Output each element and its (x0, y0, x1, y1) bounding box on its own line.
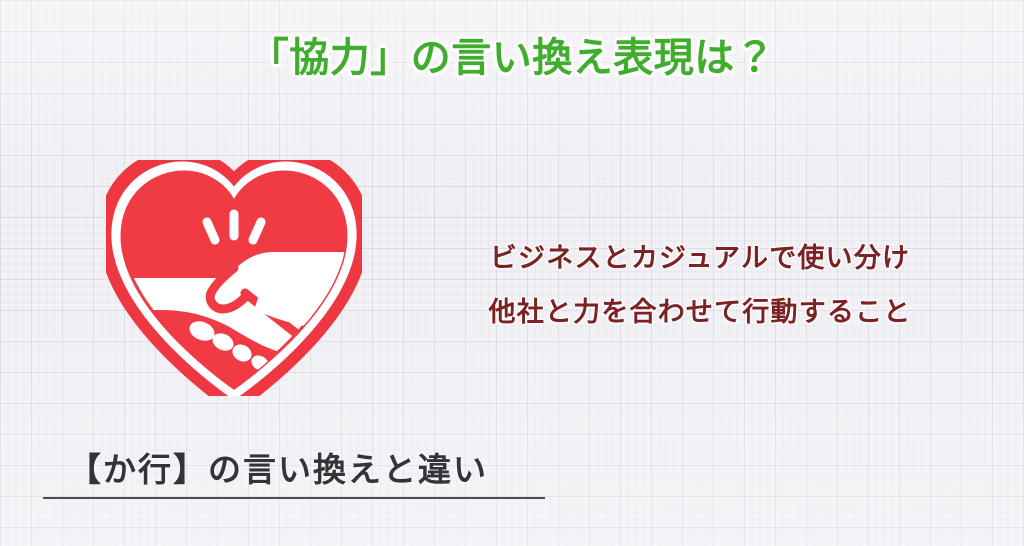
footer-caption-label: 【か行】の言い換えと違い (43, 446, 563, 494)
footer-caption: 【か行】の言い換えと違い (43, 446, 563, 499)
footer-caption-rule (43, 497, 545, 499)
lead-copy: ビジネスとカジュアルで使い分け 他社と力を合わせて行動すること (400, 232, 1000, 340)
page-title: 「協力」の言い換え表現は？ (0, 30, 1024, 86)
heart-handshake-icon (106, 160, 362, 396)
slide-canvas: 「協力」の言い換え表現は？ (0, 0, 1024, 546)
lead-line-2: 他社と力を合わせて行動すること (400, 286, 1000, 340)
lead-line-1: ビジネスとカジュアルで使い分け (400, 232, 1000, 286)
